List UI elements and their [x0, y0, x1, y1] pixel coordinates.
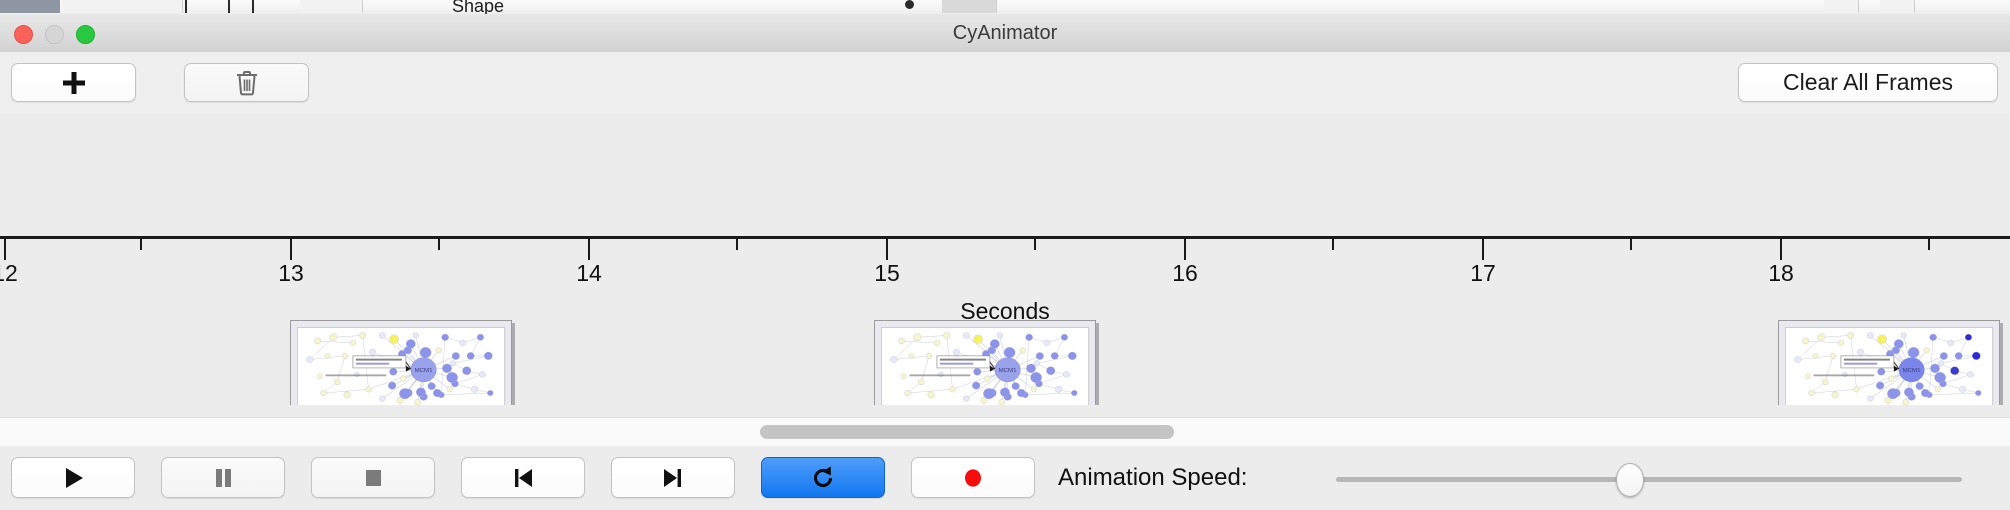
- axis-tick: [290, 239, 292, 260]
- loop-button[interactable]: [761, 457, 885, 498]
- background-tab-mark: [252, 0, 254, 13]
- skip-start-icon: [510, 465, 536, 491]
- axis-tick-label: 12: [0, 260, 18, 287]
- plus-icon: [61, 70, 87, 96]
- svg-text:MCM1: MCM1: [1903, 368, 1921, 374]
- frame-thumbnail: MCM1: [297, 327, 505, 405]
- pause-button: [161, 457, 285, 498]
- pause-icon: [210, 465, 236, 491]
- background-chip: [300, 0, 363, 13]
- axis-tick: [1780, 239, 1782, 260]
- frame-thumbnail: MCM1: [881, 327, 1089, 405]
- axis-tick: [4, 239, 6, 260]
- cyanimator-window: Shape CyAnimator: [0, 0, 2010, 510]
- play-icon: [60, 465, 86, 491]
- background-window-strip: Shape: [0, 0, 2010, 15]
- skip-start-button[interactable]: [461, 457, 585, 498]
- clear-all-frames-button[interactable]: Clear All Frames: [1738, 63, 1998, 102]
- background-tab-mark: [185, 0, 187, 13]
- axis-tick: [1928, 239, 1930, 250]
- play-button[interactable]: [11, 457, 135, 498]
- background-chip: [1880, 0, 1915, 13]
- record-icon: [960, 465, 986, 491]
- delete-frame-button[interactable]: [184, 63, 309, 102]
- timeline-scrollbar-track[interactable]: [0, 417, 2010, 447]
- axis-tick: [1482, 239, 1484, 260]
- axis-tick: [736, 239, 738, 250]
- axis-tick-label: 15: [874, 260, 900, 287]
- loop-icon: [809, 464, 837, 492]
- axis-tick: [1332, 239, 1334, 250]
- background-chip: [122, 0, 183, 13]
- svg-text:MCM1: MCM1: [415, 368, 433, 374]
- axis-tick: [438, 239, 440, 250]
- axis-line: [0, 236, 2010, 239]
- background-chip: [62, 0, 123, 13]
- background-chip: [1824, 0, 1859, 13]
- add-frame-button[interactable]: [11, 63, 136, 102]
- playback-bar: Animation Speed:: [0, 446, 2010, 510]
- axis-tick: [588, 239, 590, 260]
- axis-tick: [1034, 239, 1036, 250]
- axis-tick-label: 14: [576, 260, 602, 287]
- toolbar: Clear All Frames: [0, 52, 2010, 114]
- trash-icon: [235, 70, 259, 96]
- background-window-label: Shape: [452, 0, 504, 15]
- axis-title: Seconds: [0, 298, 2010, 325]
- background-dot-mark: [905, 0, 914, 9]
- svg-text:MCM1: MCM1: [999, 368, 1017, 374]
- animation-speed-slider[interactable]: [1336, 477, 1962, 482]
- clear-all-frames-label: Clear All Frames: [1783, 69, 1953, 96]
- background-window-titlebar-chip: [0, 0, 60, 13]
- background-tab-mark: [228, 0, 230, 13]
- axis-tick-label: 16: [1172, 260, 1198, 287]
- timeline-panel[interactable]: MCM1MCM1MCM1 12131415161718 Seconds: [0, 113, 2010, 405]
- timeline-frame[interactable]: MCM1: [1778, 320, 2000, 405]
- axis-tick: [1630, 239, 1632, 250]
- window-title: CyAnimator: [0, 14, 2010, 52]
- background-chip: [942, 0, 997, 13]
- skip-end-icon: [660, 465, 686, 491]
- axis-tick-label: 18: [1768, 260, 1794, 287]
- axis-tick: [886, 239, 888, 260]
- timeline-axis: 12131415161718 Seconds: [0, 236, 2010, 306]
- timeline-scrollbar-thumb[interactable]: [760, 425, 1174, 439]
- skip-end-button[interactable]: [611, 457, 735, 498]
- axis-tick-label: 17: [1470, 260, 1496, 287]
- axis-tick-label: 13: [278, 260, 304, 287]
- animation-speed-slider-thumb[interactable]: [1616, 463, 1644, 497]
- title-bar: CyAnimator: [0, 14, 2010, 53]
- timeline-frame[interactable]: MCM1: [874, 320, 1096, 405]
- timeline-frame[interactable]: MCM1: [290, 320, 512, 405]
- record-button[interactable]: [911, 457, 1035, 498]
- animation-speed-label: Animation Speed:: [1058, 457, 1247, 498]
- frame-thumbnail: MCM1: [1785, 327, 1993, 405]
- axis-tick: [140, 239, 142, 250]
- axis-tick: [1184, 239, 1186, 260]
- stop-button: [311, 457, 435, 498]
- stop-icon: [360, 465, 386, 491]
